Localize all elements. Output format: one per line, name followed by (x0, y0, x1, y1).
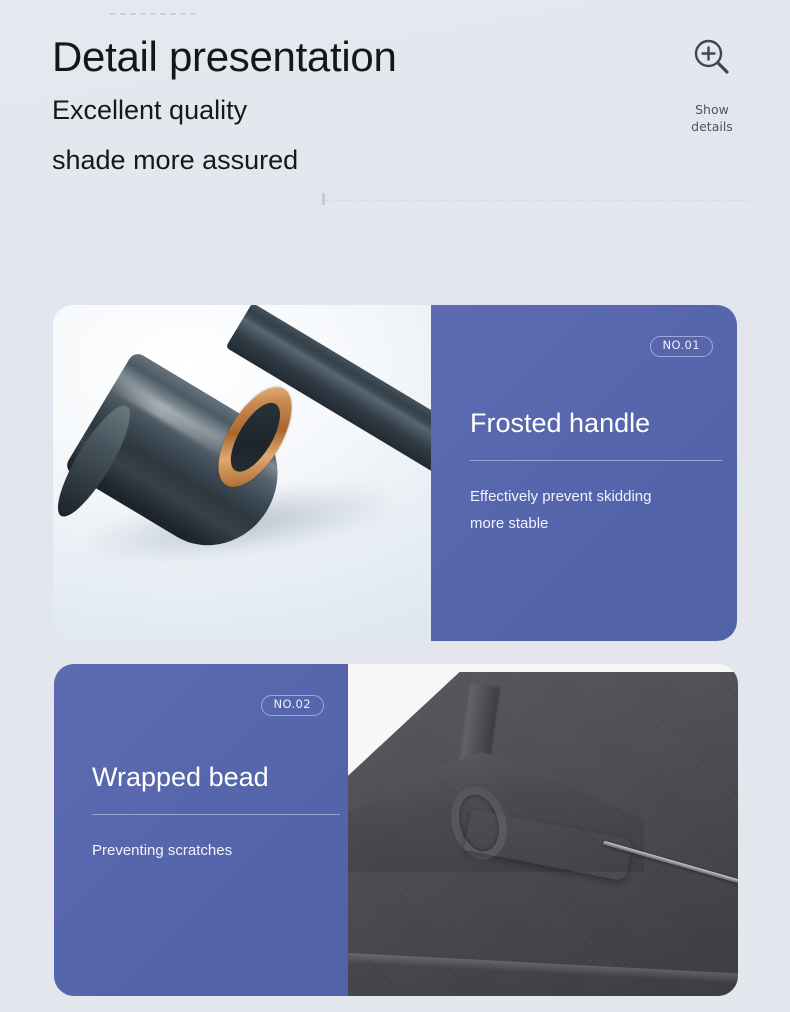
page-title: Detail presentation (52, 34, 652, 79)
header-subtitle-line-1: Excellent quality (52, 96, 652, 126)
feature-card-frosted-handle[interactable]: NO.01 Frosted handle Effectively prevent… (53, 305, 737, 641)
top-dashed-divider (110, 13, 196, 15)
feature-panel-2: NO.02 Wrapped bead Preventing scratches (54, 664, 348, 996)
show-details-button[interactable]: Show details (672, 36, 752, 136)
header-dashed-rule (325, 200, 755, 201)
header: Detail presentation Excellent quality sh… (52, 34, 652, 176)
feature-panel-1-content: Frosted handle Effectively prevent skidd… (470, 408, 711, 537)
feature-badge-1: NO.01 (650, 336, 713, 357)
header-subtitle-line-2: shade more assured (52, 146, 652, 176)
feature-title-2: Wrapped bead (92, 762, 324, 793)
wrapped-bead-photo (348, 664, 738, 996)
feature-panel-1: NO.01 Frosted handle Effectively prevent… (431, 305, 737, 641)
feature-description-2: Preventing scratches (92, 838, 324, 865)
feature-card-wrapped-bead[interactable]: NO.02 Wrapped bead Preventing scratches (54, 664, 738, 996)
header-dashed-rule-cap (322, 193, 325, 205)
feature-divider-1 (470, 460, 722, 461)
frosted-handle-photo (53, 305, 431, 641)
feature-description-1: Effectively prevent skidding more stable (470, 484, 711, 537)
show-details-label: Show details (672, 102, 752, 136)
feature-badge-2: NO.02 (261, 695, 324, 716)
feature-panel-2-content: Wrapped bead Preventing scratches (92, 762, 324, 865)
zoom-in-magnifier-icon[interactable] (691, 36, 733, 78)
feature-divider-2 (92, 814, 340, 815)
feature-title-1: Frosted handle (470, 408, 711, 439)
